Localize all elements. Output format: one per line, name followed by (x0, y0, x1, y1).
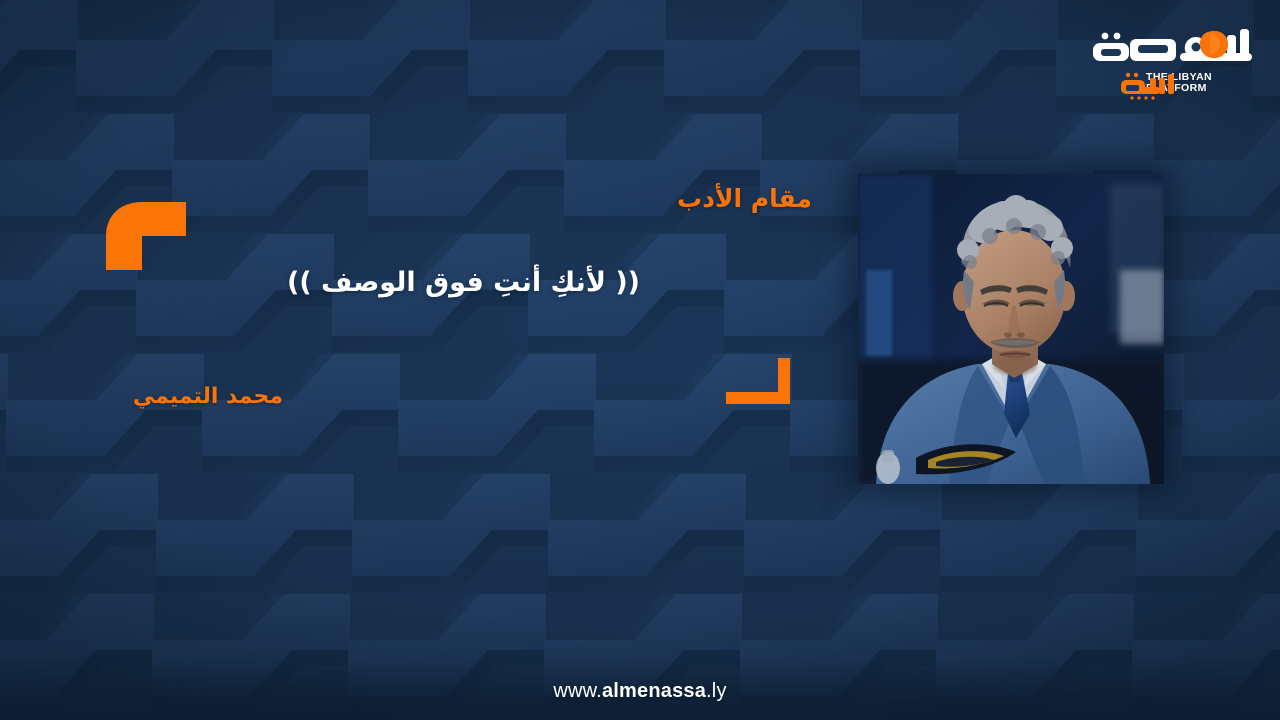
url-prefix: www. (553, 680, 602, 702)
closing-quote-mark-icon (722, 356, 794, 418)
page-title-heading: مقام الأدب (0, 184, 812, 213)
url-brand: almenassa (602, 680, 706, 702)
author-name: محمد التميمي (0, 384, 283, 409)
quote-text: (( لأنكِ أنتِ فوق الوصف )) (0, 267, 640, 298)
url-suffix: .ly (706, 680, 727, 702)
author-portrait-photo (858, 174, 1164, 484)
website-url: www.almenassa.ly (0, 680, 1280, 703)
brand-logo: THE LIBYAN PLATFORM (1084, 22, 1262, 98)
logo-subtitle-row: THE LIBYAN PLATFORM (1084, 72, 1262, 96)
logo-arabic-wordmark (1084, 25, 1260, 71)
social-media-quote-card: THE LIBYAN PLATFORM (0, 0, 1280, 720)
logo-arabic-subtitle (1116, 72, 1178, 102)
